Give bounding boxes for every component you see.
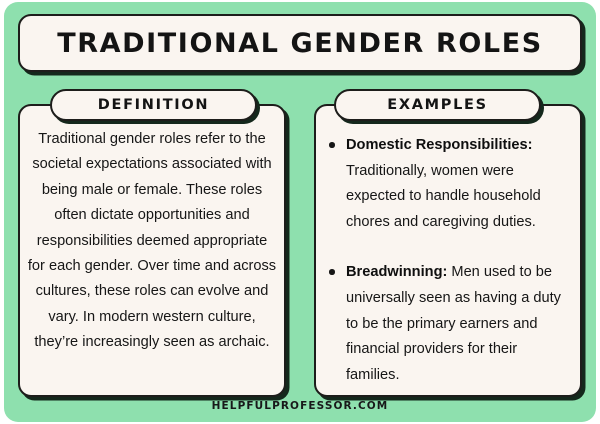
title-card: Traditional Gender Roles xyxy=(18,14,582,72)
definition-column: Definition Traditional gender roles refe… xyxy=(18,104,286,397)
list-item-text: Traditionally, women were expected to ha… xyxy=(346,163,541,230)
columns-container: Definition Traditional gender roles refe… xyxy=(4,104,596,400)
examples-badge-label: Examples xyxy=(387,98,488,113)
footer-attribution: helpfulprofessor.com xyxy=(212,400,389,412)
list-item-lead: Breadwinning: xyxy=(346,264,447,280)
definition-badge-label: Definition xyxy=(98,98,210,113)
examples-badge: Examples xyxy=(334,89,541,121)
list-item: Breadwinning: Men used to be universally… xyxy=(328,260,572,388)
list-item: Domestic Responsibilities: Traditionally… xyxy=(328,133,572,235)
bullet-dot-icon xyxy=(329,269,335,275)
list-item-lead: Domestic Responsibilities: xyxy=(346,137,533,153)
infographic-poster: Traditional Gender Roles Definition Trad… xyxy=(4,2,596,422)
footer: helpfulprofessor.com xyxy=(4,396,596,414)
definition-paragraph: Traditional gender roles refer to the so… xyxy=(27,127,277,356)
bullet-dot-icon xyxy=(329,142,335,148)
examples-column: Examples Domestic Responsibilities: Trad… xyxy=(314,104,582,397)
page-title: Traditional Gender Roles xyxy=(57,30,543,57)
definition-badge: Definition xyxy=(50,89,257,121)
examples-list: Domestic Responsibilities: Traditionally… xyxy=(328,133,572,388)
list-item-text: Men used to be universally seen as havin… xyxy=(346,264,561,382)
